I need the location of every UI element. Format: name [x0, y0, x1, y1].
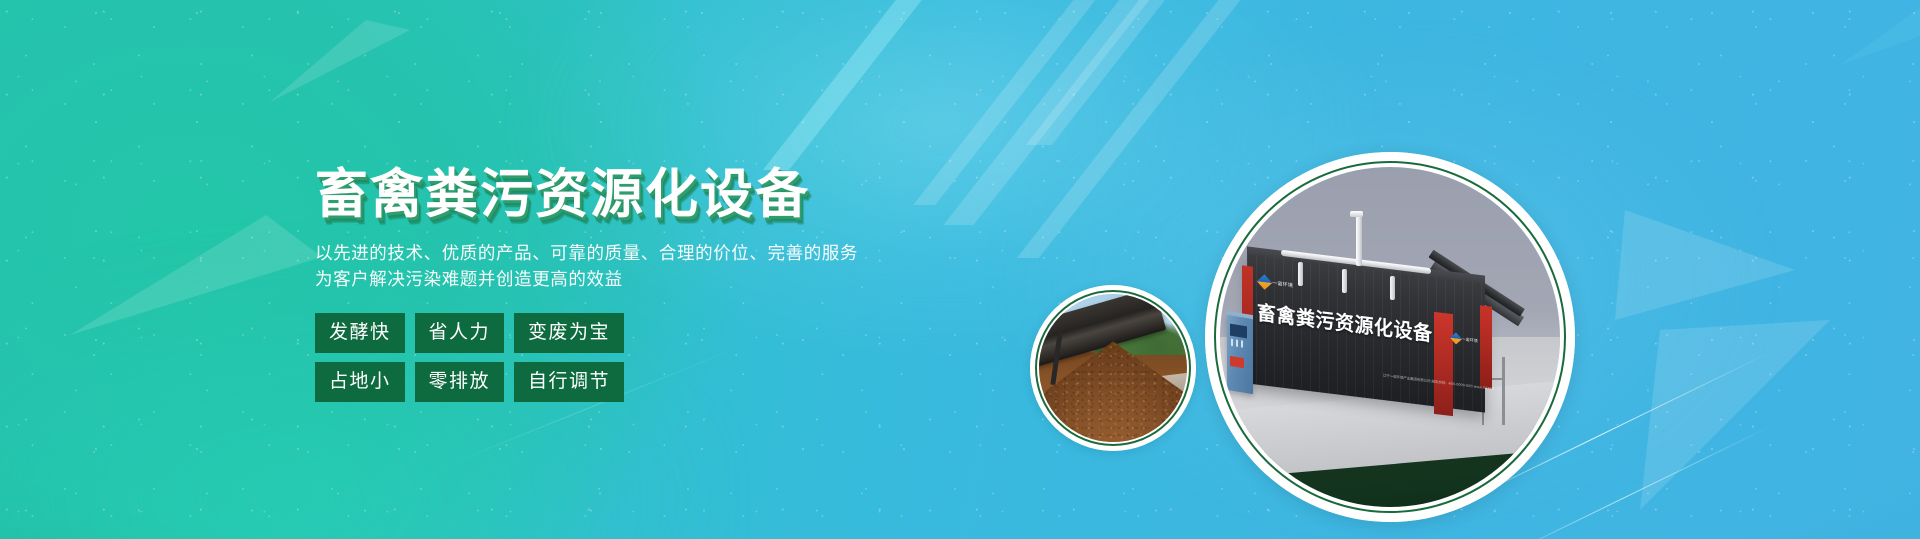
equipment-scene: 一诺环境 一诺环境 畜禽粪污资源化设备 辽宁一诺环境产业集团有限公司 服务热线：… — [1220, 167, 1560, 507]
background-vignette — [0, 0, 1920, 539]
render-conveyor-leg-2 — [1502, 357, 1505, 425]
feature-tag-row-2: 占地小 零排放 自行调节 — [315, 362, 655, 402]
banner-subtitle-line-1: 以先进的技术、优质的产品、可靠的质量、合理的价位、完善的服务 — [315, 241, 955, 267]
banner-copy: 畜禽粪污资源化设备 以先进的技术、优质的产品、可靠的质量、合理的价位、完善的服务… — [315, 168, 955, 411]
feature-tag-fast-fermentation[interactable]: 发酵快 — [315, 313, 405, 353]
render-pipe-cap — [1350, 211, 1363, 217]
banner-subtitle-line-2: 为客户解决污染难题并创造更高的效益 — [315, 267, 955, 293]
render-pipe-drop-2 — [1342, 269, 1347, 293]
compost-photo-circle — [1030, 285, 1196, 451]
promo-banner: 畜禽粪污资源化设备 以先进的技术、优质的产品、可靠的质量、合理的价位、完善的服务… — [0, 0, 1920, 539]
render-container-end-cap-far — [1480, 306, 1492, 389]
feature-tag-small-footprint[interactable]: 占地小 — [315, 362, 405, 402]
render-pipe-riser — [1356, 215, 1362, 266]
render-brand-name: 一诺环境 — [1272, 279, 1293, 289]
feature-tag-row-1: 发酵快 省人力 变废为宝 — [315, 313, 655, 353]
render-brand-name-secondary: 一诺环境 — [1461, 336, 1478, 343]
compost-scene — [1039, 294, 1187, 442]
feature-tag-list: 发酵快 省人力 变废为宝 占地小 零排放 自行调节 — [315, 313, 655, 402]
equipment-render-circle: 一诺环境 一诺环境 畜禽粪污资源化设备 辽宁一诺环境产业集团有限公司 服务热线：… — [1205, 152, 1575, 522]
render-pipe-drop-3 — [1390, 276, 1395, 300]
banner-title: 畜禽粪污资源化设备 — [315, 168, 955, 221]
feature-tag-zero-emission[interactable]: 零排放 — [415, 362, 505, 402]
equipment-photo: 一诺环境 一诺环境 畜禽粪污资源化设备 辽宁一诺环境产业集团有限公司 服务热线：… — [1220, 167, 1560, 507]
render-pipe-drop-1 — [1298, 262, 1303, 286]
feature-tag-labor-saving[interactable]: 省人力 — [415, 313, 505, 353]
feature-tag-self-adjusting[interactable]: 自行调节 — [514, 362, 624, 402]
feature-tag-waste-to-treasure[interactable]: 变废为宝 — [514, 313, 624, 353]
compost-photo — [1039, 294, 1187, 442]
